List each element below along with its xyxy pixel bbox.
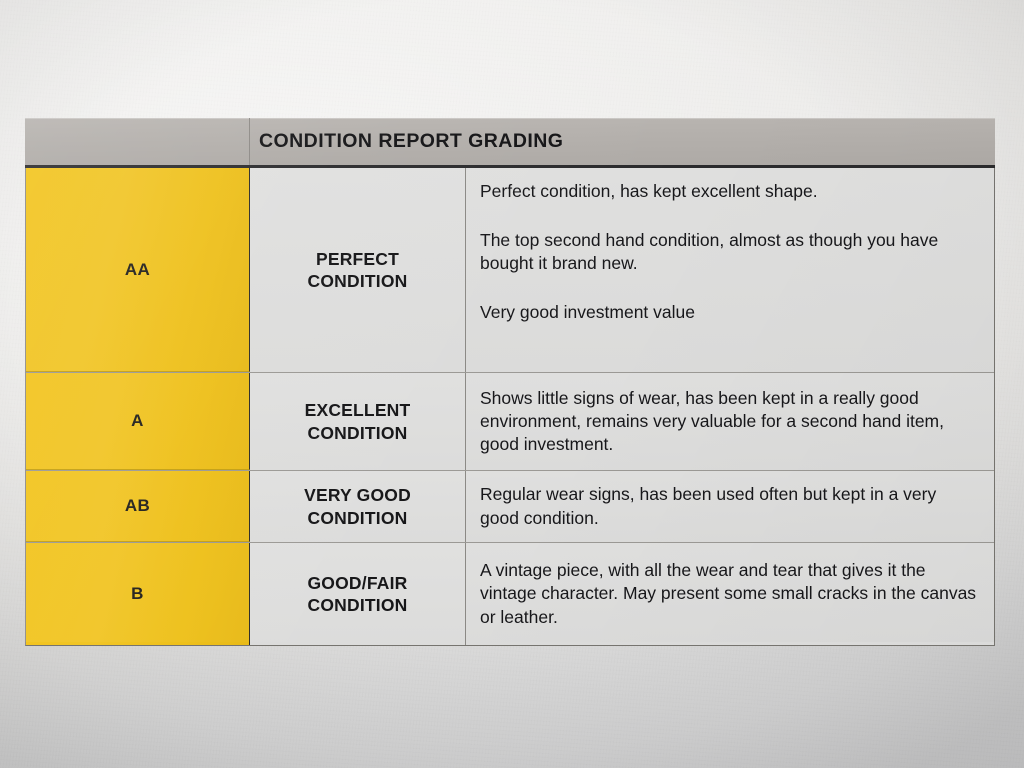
condition-label-line-1: PERFECT <box>308 248 408 270</box>
description-paragraph: Perfect condition, has kept excellent sh… <box>480 180 980 203</box>
condition-report-grading-table: CONDITION REPORT GRADING AA PERFECT COND… <box>25 118 995 646</box>
table-body: AA PERFECT CONDITION Perfect condition, … <box>25 168 995 646</box>
table-row: A EXCELLENT CONDITION Shows little signs… <box>26 373 994 471</box>
condition-label-line-1: EXCELLENT <box>305 399 411 421</box>
condition-label-line-1: VERY GOOD <box>304 484 411 506</box>
table-row: AB VERY GOOD CONDITION Regular wear sign… <box>26 471 994 543</box>
condition-label-aa: PERFECT CONDITION <box>250 168 466 372</box>
description-paragraph: Regular wear signs, has been used often … <box>480 483 980 530</box>
condition-label-line-1: GOOD/FAIR <box>308 572 408 594</box>
grade-code-a: A <box>26 373 250 470</box>
table-header-row: CONDITION REPORT GRADING <box>25 118 995 168</box>
description-paragraph: Very good investment value <box>480 301 980 324</box>
description-aa: Perfect condition, has kept excellent sh… <box>466 168 994 372</box>
condition-label-a: EXCELLENT CONDITION <box>250 373 466 470</box>
table-row: AA PERFECT CONDITION Perfect condition, … <box>26 168 994 373</box>
condition-label-line-2: CONDITION <box>305 422 411 444</box>
table-row: B GOOD/FAIR CONDITION A vintage piece, w… <box>26 543 994 645</box>
condition-label-line-2: CONDITION <box>308 594 408 616</box>
description-paragraph: Shows little signs of wear, has been kep… <box>480 387 980 457</box>
description-a: Shows little signs of wear, has been kep… <box>466 373 994 470</box>
description-b: A vintage piece, with all the wear and t… <box>466 543 994 645</box>
description-paragraph: A vintage piece, with all the wear and t… <box>480 559 980 629</box>
condition-label-line-2: CONDITION <box>304 507 411 529</box>
description-ab: Regular wear signs, has been used often … <box>466 471 994 542</box>
page-title: CONDITION REPORT GRADING <box>250 130 995 153</box>
description-paragraph: The top second hand condition, almost as… <box>480 229 980 276</box>
condition-label-line-2: CONDITION <box>308 270 408 292</box>
table-header-left-spacer <box>25 118 250 165</box>
condition-label-b: GOOD/FAIR CONDITION <box>250 543 466 645</box>
grade-code-ab: AB <box>26 471 250 542</box>
grade-code-aa: AA <box>26 168 250 372</box>
condition-label-ab: VERY GOOD CONDITION <box>250 471 466 542</box>
grade-code-b: B <box>26 543 250 645</box>
